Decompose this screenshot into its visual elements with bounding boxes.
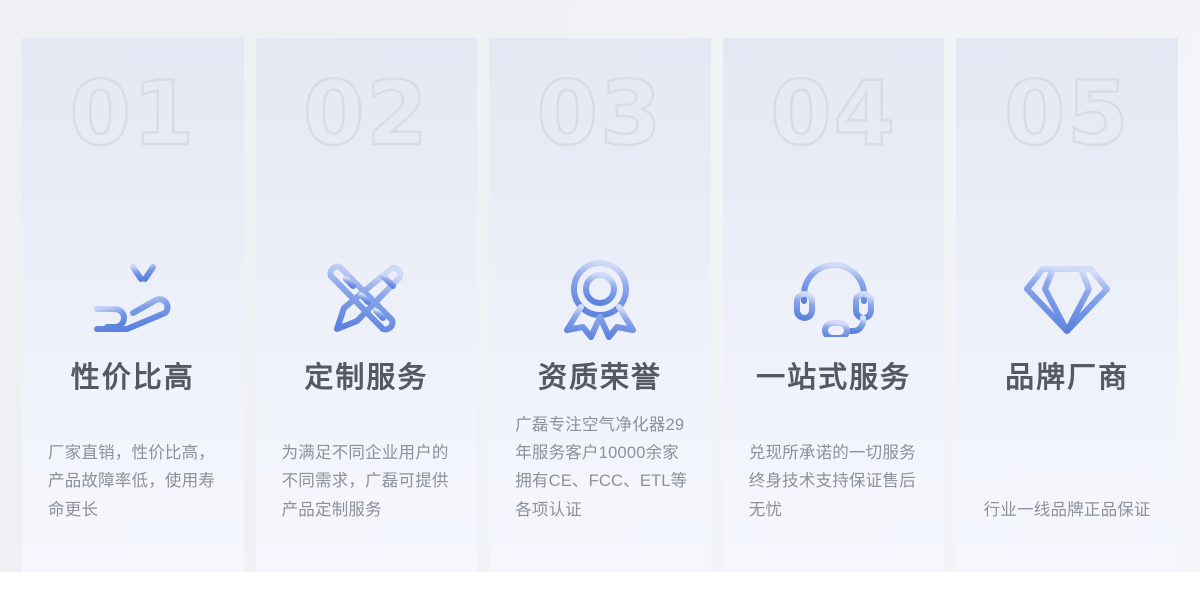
- card-title: 品牌厂商: [956, 360, 1178, 396]
- card-watermark-number: 01: [22, 70, 244, 158]
- diamond-icon: [956, 260, 1178, 338]
- card-watermark-number: 02: [256, 70, 478, 158]
- card-description: 为满足不同企业用户的不同需求，广磊可提供产品定制服务: [282, 439, 456, 524]
- card-watermark-number: 05: [956, 70, 1178, 158]
- pencil-ruler-icon: [256, 260, 478, 338]
- features-page: 01: [0, 0, 1200, 600]
- card-title: 性价比高: [22, 360, 244, 396]
- card-description: 厂家直销，性价比高，产品故障率低，使用寿命更长: [48, 439, 222, 524]
- feature-card-02[interactable]: 02: [256, 38, 478, 572]
- card-watermark-number: 04: [723, 70, 945, 158]
- feature-card-03[interactable]: 03: [489, 38, 711, 572]
- card-watermark-number: 03: [489, 70, 711, 158]
- feature-card-05[interactable]: 05: [956, 38, 1178, 572]
- headset-icon: [723, 260, 945, 338]
- card-description: 广磊专注空气净化器29年服务客户10000余家拥有CE、FCC、ETL等各项认证: [515, 411, 689, 525]
- feature-card-01[interactable]: 01: [22, 38, 244, 572]
- feature-card-04[interactable]: 04: [723, 38, 945, 572]
- award-medal-icon: [489, 260, 711, 338]
- card-title: 资质荣誉: [489, 360, 711, 396]
- card-description: 行业一线品牌正品保证: [970, 496, 1164, 524]
- hand-holding-yuan-icon: [22, 260, 244, 338]
- feature-card-list: 01: [22, 38, 1178, 572]
- card-description: 兑现所承诺的一切服务终身技术支持保证售后无忧: [749, 439, 923, 524]
- card-title: 一站式服务: [723, 360, 945, 396]
- card-title: 定制服务: [256, 360, 478, 396]
